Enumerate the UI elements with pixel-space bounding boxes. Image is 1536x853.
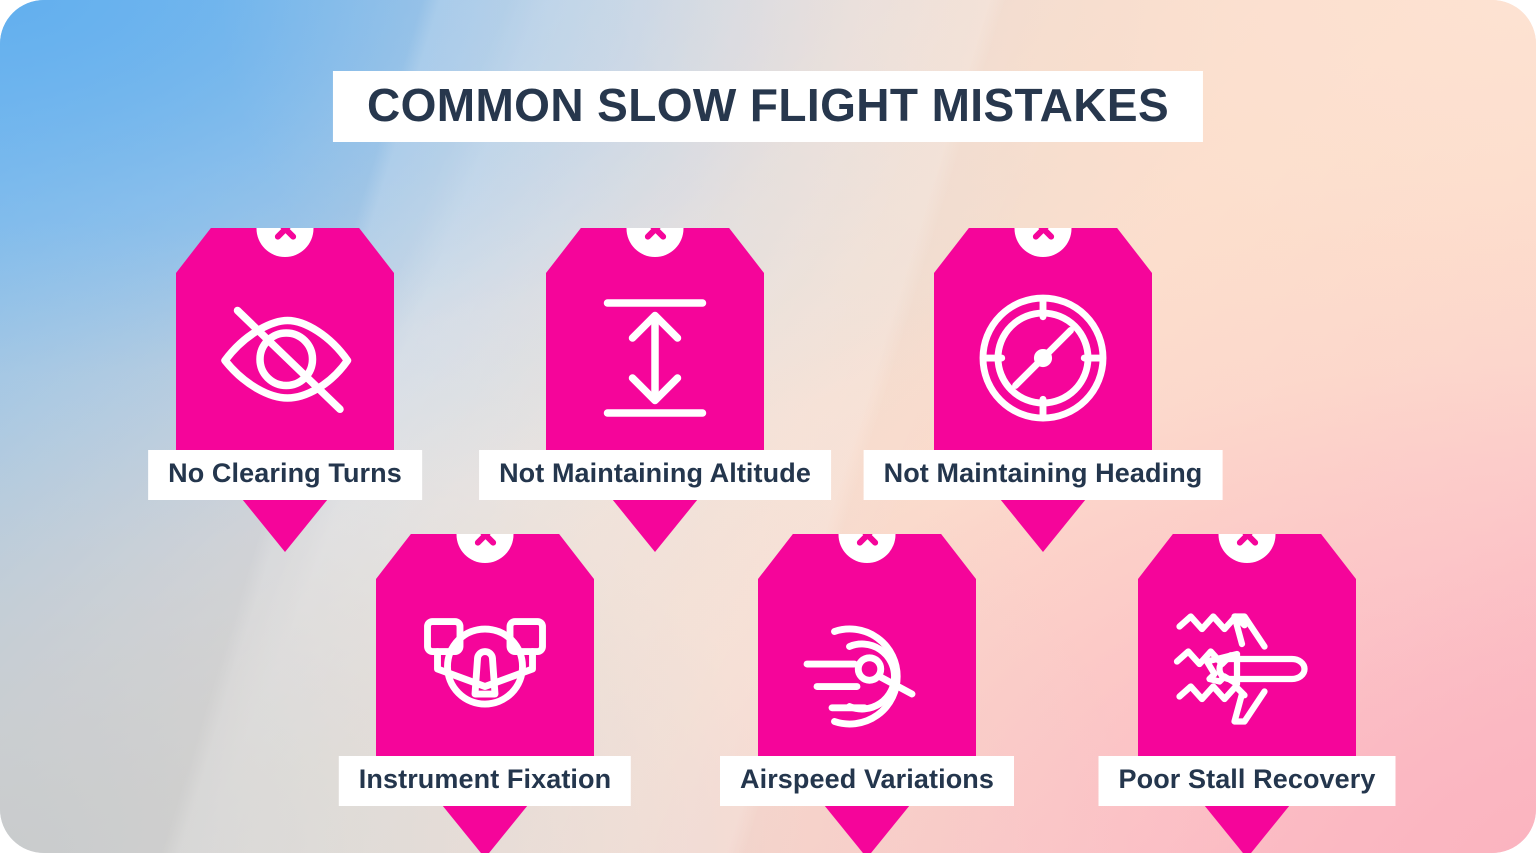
- badge-airspeed-variations[interactable]: Airspeed Variations: [758, 534, 976, 784]
- page-title: COMMON SLOW FLIGHT MISTAKES: [367, 81, 1169, 130]
- x-circle-icon: [257, 200, 314, 257]
- compass-icon: [968, 283, 1118, 433]
- badge-label-box: Instrument Fixation: [339, 756, 631, 806]
- badge-shield: [934, 228, 1152, 478]
- infographic-canvas: COMMON SLOW FLIGHT MISTAKES: [0, 0, 1536, 853]
- airplane-turbulence-icon: [1172, 589, 1322, 739]
- x-circle-icon: [1015, 200, 1072, 257]
- badge-instrument-fixation[interactable]: Instrument Fixation: [376, 534, 594, 784]
- badge-label-box: Not Maintaining Heading: [864, 450, 1223, 500]
- speedometer-icon: [792, 589, 942, 739]
- badge-label-box: Poor Stall Recovery: [1098, 756, 1395, 806]
- badge-poor-stall-recovery[interactable]: Poor Stall Recovery: [1138, 534, 1356, 784]
- badge-label: No Clearing Turns: [168, 458, 402, 488]
- badge-label-box: Airspeed Variations: [720, 756, 1014, 806]
- altitude-arrows-icon: [580, 283, 730, 433]
- badge-label-box: Not Maintaining Altitude: [479, 450, 831, 500]
- badge-label: Instrument Fixation: [359, 764, 611, 794]
- yoke-gauge-icon: [410, 589, 560, 739]
- badge-not-maintaining-altitude[interactable]: Not Maintaining Altitude: [546, 228, 764, 478]
- x-circle-icon: [457, 506, 514, 563]
- badge-label: Not Maintaining Altitude: [499, 458, 811, 488]
- badge-label-box: No Clearing Turns: [148, 450, 422, 500]
- badge-shield: [758, 534, 976, 784]
- badge-no-clearing-turns[interactable]: No Clearing Turns: [176, 228, 394, 478]
- x-circle-icon: [627, 200, 684, 257]
- x-circle-icon: [839, 506, 896, 563]
- badge-shield: [1138, 534, 1356, 784]
- badge-label: Not Maintaining Heading: [884, 458, 1203, 488]
- badge-shield: [176, 228, 394, 478]
- badge-shield: [376, 534, 594, 784]
- badge-label: Poor Stall Recovery: [1118, 764, 1375, 794]
- eye-slash-icon: [210, 283, 360, 433]
- badge-not-maintaining-heading[interactable]: Not Maintaining Heading: [934, 228, 1152, 478]
- page-title-banner: COMMON SLOW FLIGHT MISTAKES: [333, 71, 1203, 142]
- x-circle-icon: [1219, 506, 1276, 563]
- badge-label: Airspeed Variations: [740, 764, 994, 794]
- badge-shield: [546, 228, 764, 478]
